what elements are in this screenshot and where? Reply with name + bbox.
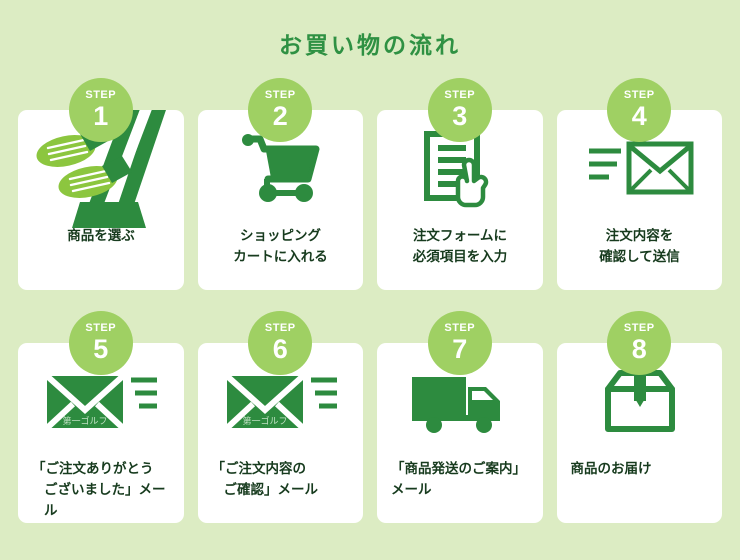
step-card-3[interactable]: 注文フォームに 必須項目を入力 STEP 3 bbox=[377, 110, 543, 290]
shopping-flow-infographic: お買い物の流れ bbox=[0, 0, 740, 560]
step-caption-8: 商品のお届け bbox=[557, 459, 723, 480]
step-badge-4: STEP 4 bbox=[607, 78, 671, 142]
step-caption-2: ショッピング カートに入れる bbox=[198, 226, 364, 268]
step-badge-word: STEP bbox=[624, 323, 655, 334]
step-card-5[interactable]: 第一ゴルフ 「ご注文ありがとう ございました」メール bbox=[18, 343, 184, 523]
step-card-6[interactable]: 第一ゴルフ 「ご注文内容の ご確認」メール bbox=[198, 343, 364, 523]
step-badge-number: 1 bbox=[93, 103, 108, 130]
step-caption-1: 商品を選ぶ bbox=[18, 226, 184, 247]
steps-row-top: 商品を選ぶ STEP 1 bbox=[18, 110, 722, 290]
step-badge-number: 5 bbox=[93, 336, 108, 363]
step-card-4[interactable]: 注文内容を 確認して送信 STEP 4 bbox=[557, 110, 723, 290]
step-badge-word: STEP bbox=[444, 323, 475, 334]
step-caption-5: 「ご注文ありがとう ございました」メール bbox=[18, 459, 184, 522]
step-badge-word: STEP bbox=[265, 90, 296, 101]
page-title: お買い物の流れ bbox=[0, 26, 740, 60]
steps-grid: 商品を選ぶ STEP 1 bbox=[18, 110, 722, 523]
step-badge-word: STEP bbox=[85, 323, 116, 334]
step-card-1[interactable]: 商品を選ぶ STEP 1 bbox=[18, 110, 184, 290]
mail-brand-label: 第一ゴルフ bbox=[242, 415, 287, 426]
mail-brand-label: 第一ゴルフ bbox=[62, 415, 107, 426]
step-badge-2: STEP 2 bbox=[248, 78, 312, 142]
step-badge-3: STEP 3 bbox=[428, 78, 492, 142]
step-caption-4: 注文内容を 確認して送信 bbox=[557, 226, 723, 268]
step-badge-7: STEP 7 bbox=[428, 311, 492, 375]
step-badge-word: STEP bbox=[265, 323, 296, 334]
step-badge-word: STEP bbox=[624, 90, 655, 101]
step-badge-word: STEP bbox=[444, 90, 475, 101]
step-badge-number: 2 bbox=[273, 103, 288, 130]
step-badge-number: 7 bbox=[452, 336, 467, 363]
step-card-2[interactable]: ショッピング カートに入れる STEP 2 bbox=[198, 110, 364, 290]
step-badge-8: STEP 8 bbox=[607, 311, 671, 375]
step-badge-number: 6 bbox=[273, 336, 288, 363]
step-card-7[interactable]: 「商品発送のご案内」 メール STEP 7 bbox=[377, 343, 543, 523]
step-badge-1: STEP 1 bbox=[69, 78, 133, 142]
step-caption-6: 「ご注文内容の ご確認」メール bbox=[198, 459, 364, 501]
step-card-8[interactable]: 商品のお届け STEP 8 bbox=[557, 343, 723, 523]
steps-row-bottom: 第一ゴルフ 「ご注文ありがとう ございました」メール bbox=[18, 343, 722, 523]
step-badge-number: 4 bbox=[632, 103, 647, 130]
step-badge-5: STEP 5 bbox=[69, 311, 133, 375]
step-caption-7: 「商品発送のご案内」 メール bbox=[377, 459, 543, 501]
step-badge-number: 3 bbox=[452, 103, 467, 130]
step-badge-number: 8 bbox=[632, 336, 647, 363]
step-badge-6: STEP 6 bbox=[248, 311, 312, 375]
step-caption-3: 注文フォームに 必須項目を入力 bbox=[377, 226, 543, 268]
step-badge-word: STEP bbox=[85, 90, 116, 101]
